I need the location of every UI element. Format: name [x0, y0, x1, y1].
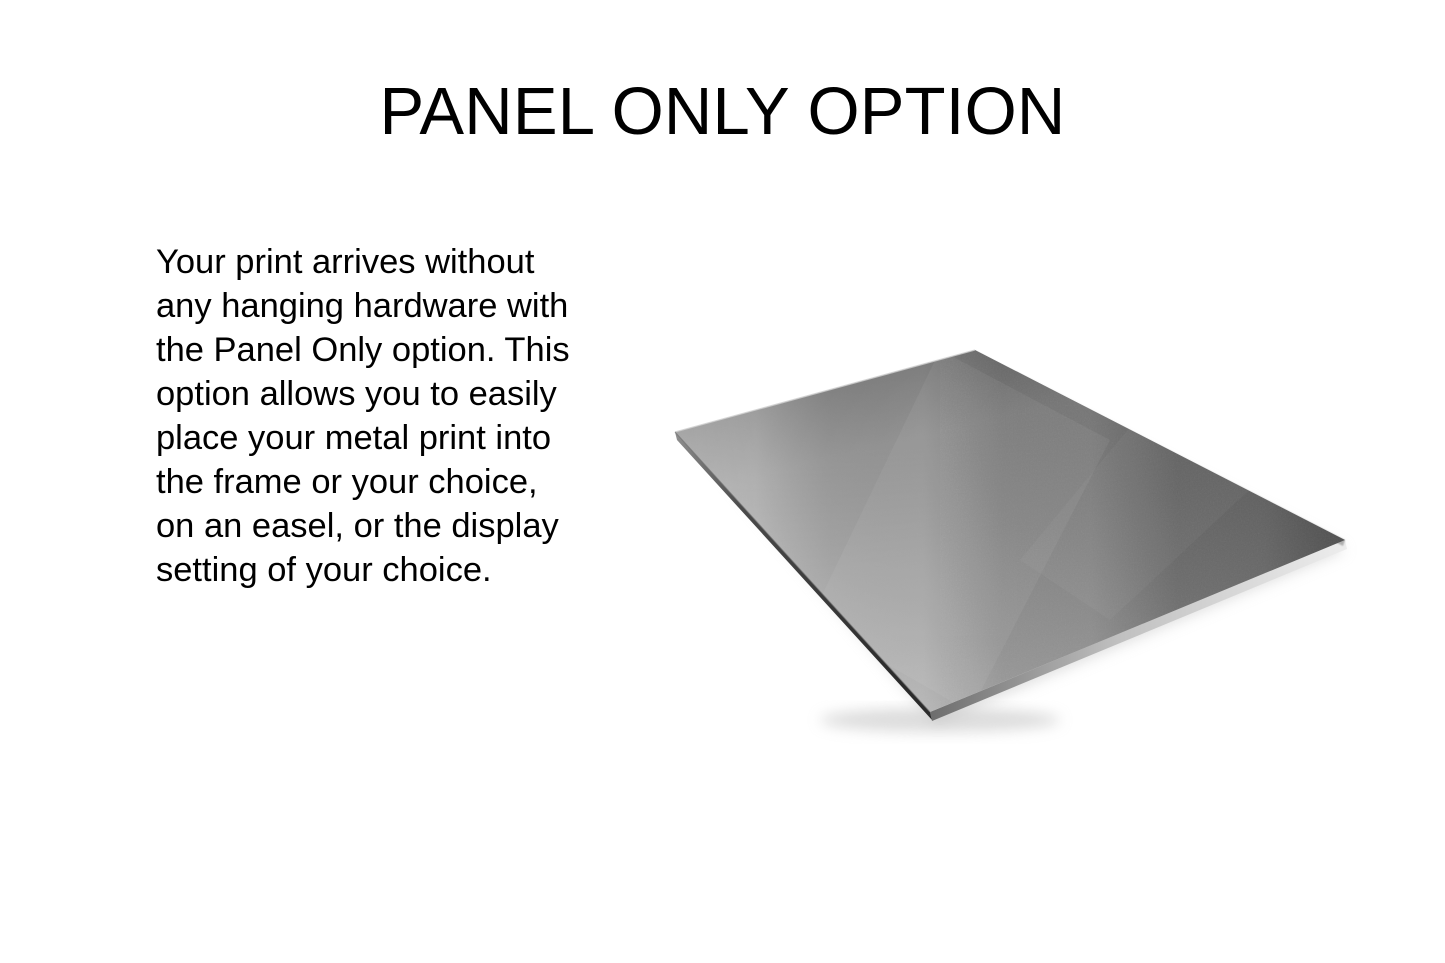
body-paragraph: Your print arrives without any hanging h…	[156, 240, 576, 592]
metal-panel-illustration	[640, 320, 1380, 750]
page-title: PANEL ONLY OPTION	[0, 78, 1445, 146]
metal-panel-svg	[640, 320, 1380, 750]
